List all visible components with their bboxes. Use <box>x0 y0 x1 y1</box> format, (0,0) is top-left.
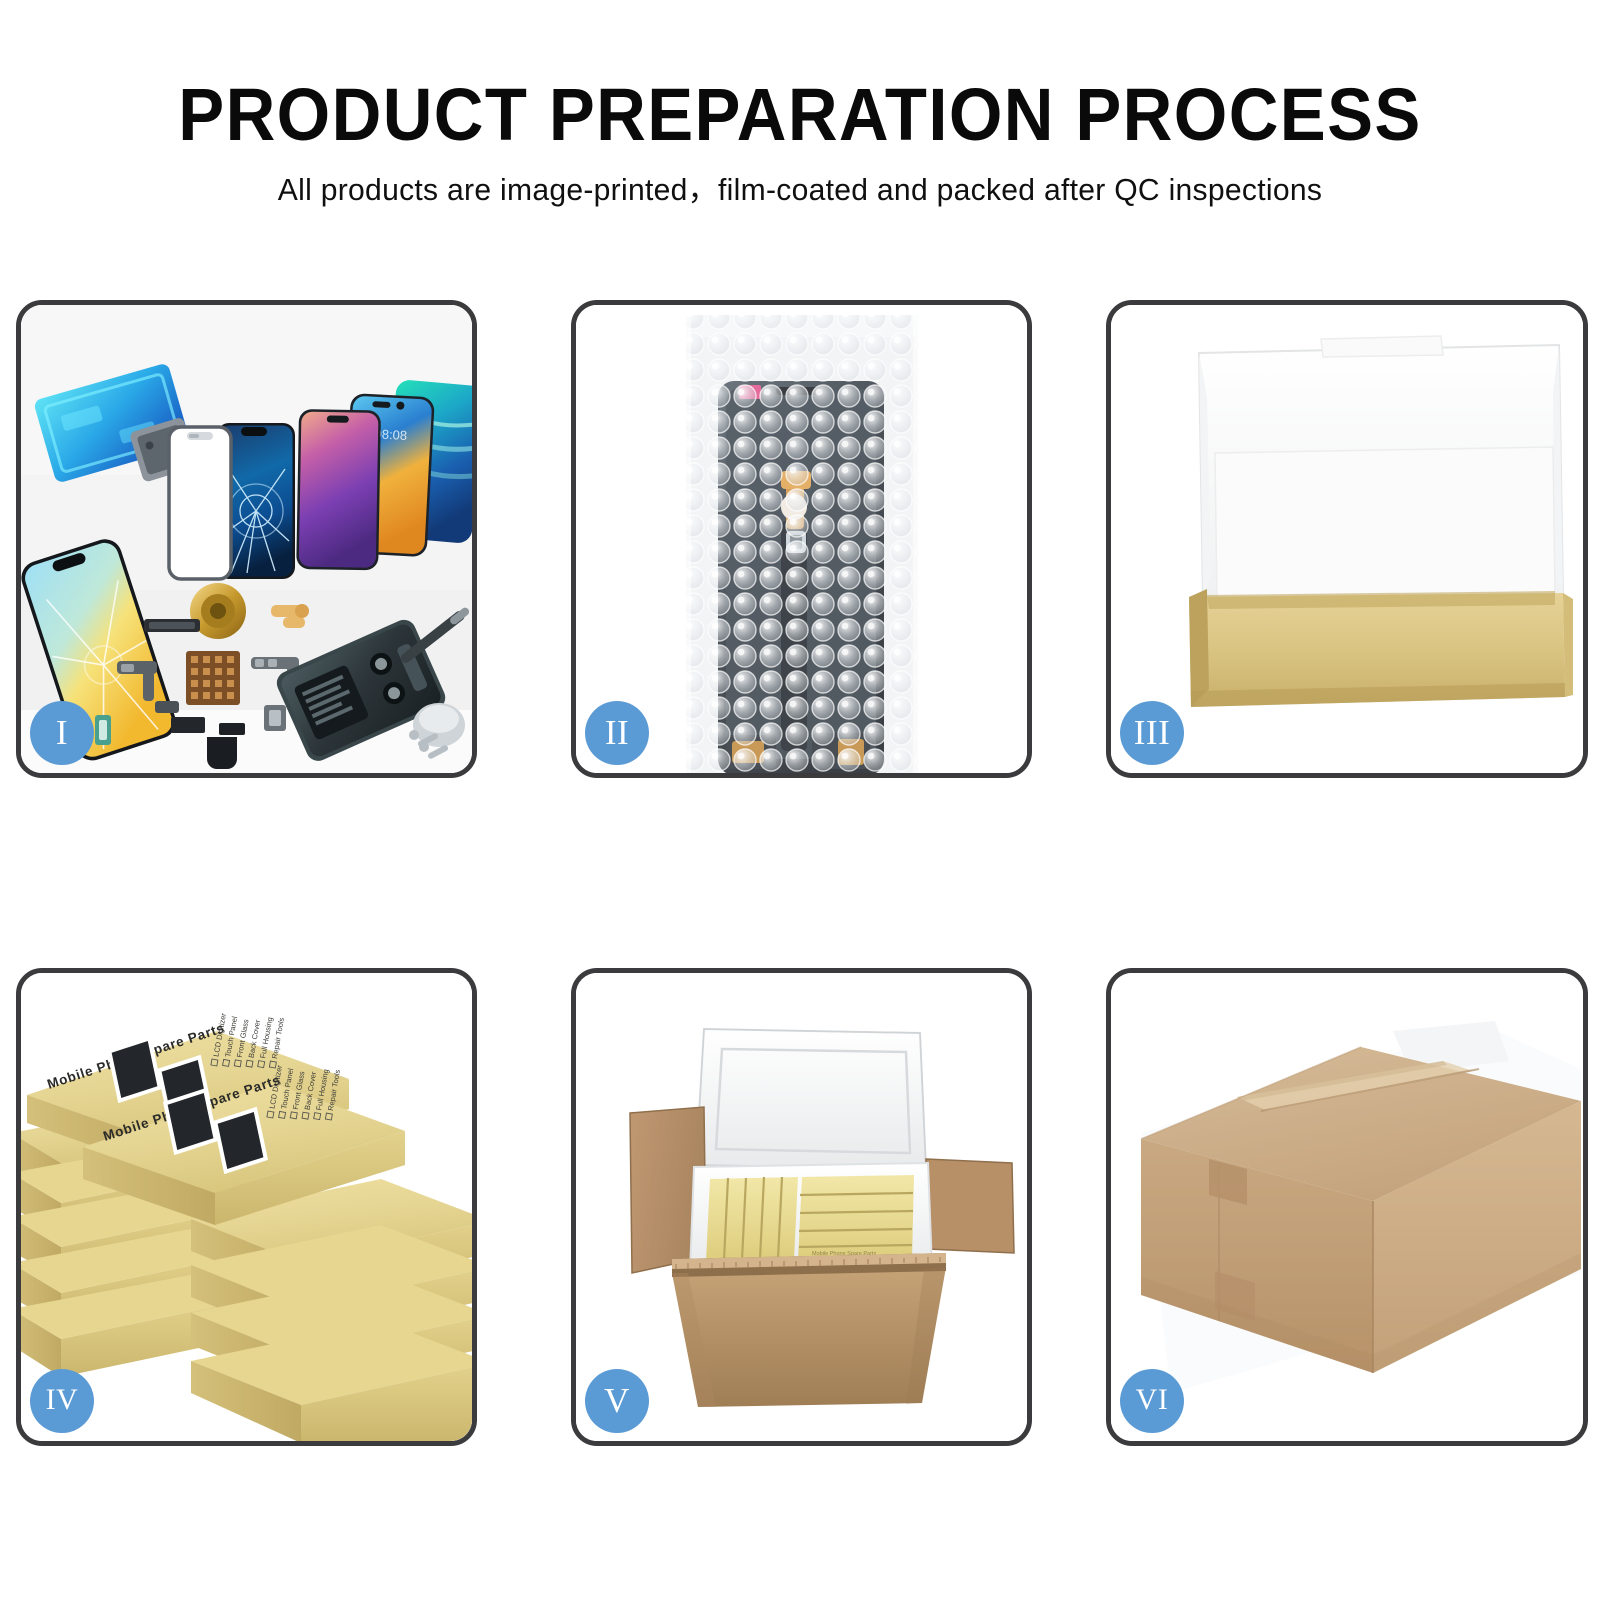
process-step-5: Mobile Phone Spare Parts <box>571 968 1032 1446</box>
step-5-image: Mobile Phone Spare Parts <box>576 973 1027 1441</box>
step-badge-1: I <box>30 701 94 765</box>
carton-with-foam-insert-illustration: Mobile Phone Spare Parts <box>576 973 1027 1441</box>
process-step-4: Mobile Phone Spare Parts <box>16 968 477 1446</box>
process-step-grid: 08:08 <box>16 300 1588 1446</box>
page-subtitle: All products are image-printed，film-coat… <box>24 174 1576 205</box>
page-title: PRODUCT PREPARATION PROCESS <box>56 78 1544 152</box>
process-step-2: II <box>571 300 1032 778</box>
step-badge-3-label: III <box>1134 715 1170 750</box>
process-step-3: III <box>1106 300 1588 778</box>
step-3-image <box>1111 305 1583 773</box>
step-badge-5-label: V <box>604 1383 630 1418</box>
process-step-1: 08:08 <box>16 300 477 778</box>
step-badge-6-label: VI <box>1136 1385 1169 1415</box>
product-preparation-infographic: PRODUCT PREPARATION PROCESS All products… <box>0 0 1600 1600</box>
step-badge-4: IV <box>30 1369 94 1433</box>
stacked-retail-boxes-illustration: Mobile Phone Spare Parts <box>21 973 472 1441</box>
step-4-image: Mobile Phone Spare Parts <box>21 973 472 1441</box>
step-badge-4-label: IV <box>46 1385 79 1415</box>
phone-parts-assortment-illustration: 08:08 <box>21 305 472 773</box>
step-badge-2-label: II <box>605 715 629 750</box>
step-badge-1-label: I <box>56 715 68 750</box>
step-1-image: 08:08 <box>21 305 472 773</box>
process-step-6: VI <box>1106 968 1588 1446</box>
sealed-shipping-carton-illustration <box>1111 973 1583 1441</box>
step-badge-6: VI <box>1120 1369 1184 1433</box>
step-badge-5: V <box>585 1369 649 1433</box>
step-badge-2: II <box>585 701 649 765</box>
bubble-wrapped-screen-illustration <box>576 305 1027 773</box>
step-6-image <box>1111 973 1583 1441</box>
step-badge-3: III <box>1120 701 1184 765</box>
open-mailer-box-illustration <box>1111 305 1583 773</box>
header: PRODUCT PREPARATION PROCESS All products… <box>0 78 1600 205</box>
step-2-image <box>576 305 1027 773</box>
